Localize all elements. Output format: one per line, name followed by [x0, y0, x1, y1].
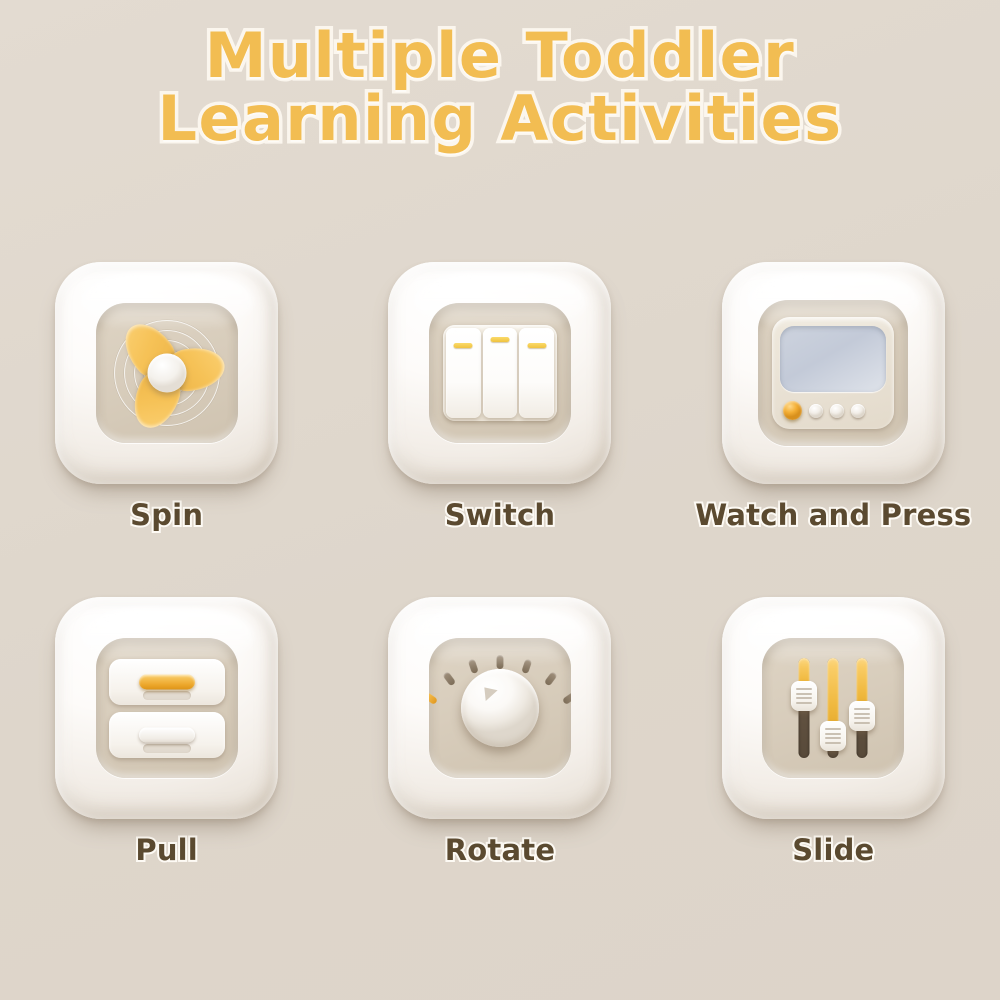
rotary-dial[interactable] [434, 642, 566, 774]
tv-screen [780, 326, 886, 392]
module-recess [429, 638, 571, 778]
vertical-slider-3[interactable] [854, 658, 870, 758]
title-line-2: Learning Activities [0, 87, 1000, 150]
vertical-slider-2[interactable] [825, 658, 841, 758]
tv-button-4[interactable] [851, 404, 865, 418]
pull-slider-top[interactable] [109, 659, 225, 705]
dial-tick [521, 659, 532, 674]
pull-handle-amber[interactable] [139, 674, 195, 689]
activity-card-pull[interactable]: Pull [7, 597, 327, 932]
module-pull[interactable] [55, 597, 278, 819]
module-recess [762, 638, 904, 778]
thumb-ridge [825, 742, 841, 744]
module-spin[interactable] [55, 262, 278, 484]
power-button[interactable] [783, 401, 802, 420]
slider-thumb[interactable] [820, 721, 846, 751]
module-recess [758, 300, 908, 446]
pull-handle-panel [109, 654, 225, 762]
thumb-ridge [796, 693, 812, 695]
rocker-switch-2[interactable] [483, 328, 518, 418]
pull-handle-white[interactable] [139, 727, 195, 742]
thumb-ridge [854, 722, 870, 724]
dial-pointer-icon [478, 682, 497, 701]
thumb-ridge [825, 737, 841, 739]
activity-caption: Spin [130, 498, 203, 532]
activity-caption: Pull [135, 833, 198, 867]
activity-card-switch[interactable]: Switch [340, 262, 660, 597]
activity-card-watch-and-press[interactable]: Watch and Press [673, 262, 993, 597]
pull-slot [143, 744, 191, 753]
thumb-ridge [854, 717, 870, 719]
page-title: Multiple Toddler Learning Activities [0, 24, 1000, 150]
activity-caption: Switch [445, 498, 556, 532]
activity-card-slide[interactable]: Slide [673, 597, 993, 932]
tv-button-row [780, 401, 886, 420]
activity-card-spin[interactable]: Spin [7, 262, 327, 597]
slider-thumb[interactable] [791, 681, 817, 711]
indicator-light-icon [527, 343, 546, 348]
module-rotate[interactable] [388, 597, 611, 819]
module-recess [429, 303, 571, 443]
rocker-switch-panel [443, 325, 557, 421]
indicator-light-icon [490, 337, 509, 342]
rocker-switch-3[interactable] [519, 328, 554, 418]
fan-blades-icon[interactable] [104, 310, 230, 436]
activity-caption: Slide [792, 833, 874, 867]
rocker-switch-1[interactable] [446, 328, 481, 418]
module-slide[interactable] [722, 597, 945, 819]
tv-button-3[interactable] [830, 404, 844, 418]
dial-knob[interactable] [461, 669, 539, 747]
pull-slot [143, 691, 191, 700]
thumb-ridge [796, 697, 812, 699]
dial-tick [468, 659, 479, 674]
indicator-light-icon [454, 343, 473, 348]
thumb-ridge [825, 728, 841, 730]
module-recess [96, 303, 238, 443]
tv-body [772, 317, 894, 429]
thumb-ridge [854, 713, 870, 715]
dial-tick [442, 671, 456, 686]
thumb-ridge [825, 733, 841, 735]
dial-tick [496, 655, 503, 669]
tv-button-2[interactable] [809, 404, 823, 418]
dial-tick-active [429, 691, 438, 705]
thumb-ridge [796, 688, 812, 690]
activity-caption: Watch and Press [695, 498, 971, 532]
dial-tick [562, 691, 571, 705]
slider-panel [774, 652, 892, 764]
fan-hub[interactable] [147, 354, 186, 393]
title-line-1: Multiple Toddler [205, 19, 796, 92]
activity-card-rotate[interactable]: Rotate [340, 597, 660, 932]
thumb-ridge [854, 708, 870, 710]
module-recess [96, 638, 238, 778]
pull-slider-bottom[interactable] [109, 712, 225, 758]
vertical-slider-1[interactable] [796, 658, 812, 758]
activity-grid: Spin Switch [0, 262, 1000, 932]
module-watch-and-press[interactable] [722, 262, 945, 484]
activity-caption: Rotate [445, 833, 555, 867]
dial-tick [544, 671, 558, 686]
thumb-ridge [796, 702, 812, 704]
module-switch[interactable] [388, 262, 611, 484]
poster-canvas: Multiple Toddler Learning Activities [0, 0, 1000, 1000]
slider-thumb[interactable] [849, 701, 875, 731]
